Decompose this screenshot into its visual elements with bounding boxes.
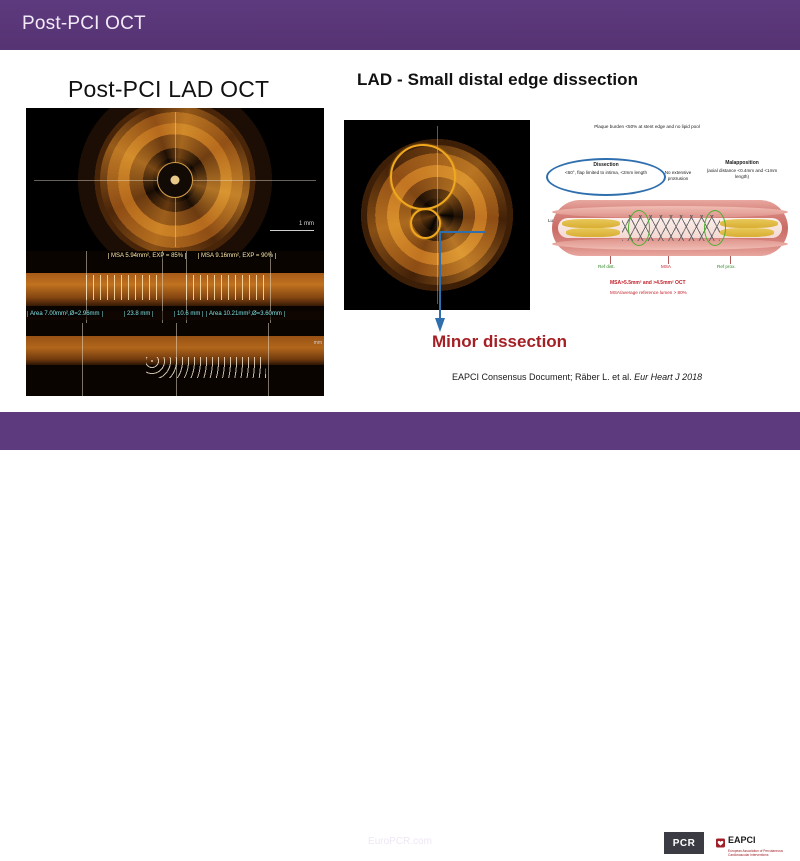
dissection-highlight-circle <box>390 144 456 210</box>
msa-ratio: MSA/average reference lumen > 80% <box>610 290 687 295</box>
edge-marker-distal <box>628 210 650 246</box>
pcr-badge: PCR <box>664 832 704 854</box>
dissection-detail: <60°, flap limited to intima, <2mm lengt… <box>556 170 656 176</box>
plaque-distal-bottom <box>566 228 620 237</box>
ref-tick-proximal <box>730 256 731 264</box>
citation: EAPCI Consensus Document; Räber L. et al… <box>452 372 702 382</box>
oct-marker <box>268 323 269 396</box>
oct-image-left: 1 mm MSA 5.94mm², EXP = 85% MSA 9.16mm²,… <box>26 108 324 396</box>
eapci-badge: EAPCI European Association of Percutaneo… <box>712 830 790 856</box>
header-title: Post-PCI OCT <box>22 13 146 35</box>
msa-label: MSA <box>661 264 671 269</box>
plaque-proximal-bottom <box>720 228 774 237</box>
vessel-cross-illustration <box>552 200 788 256</box>
oct-marker <box>176 323 177 396</box>
minor-dissection-annotation: Minor dissection <box>432 332 567 352</box>
vessel-diagram: Plaque burden <50% at stent edge and no … <box>548 122 792 306</box>
ref-tick-msa <box>668 256 669 264</box>
citation-journal: Eur Heart J 2018 <box>634 372 702 382</box>
oct-scale-bar <box>270 230 314 231</box>
malapposition-detail: (axial distance <0.4mm and <1mm length) <box>700 168 784 180</box>
area-distal-label: Area 7.00mm²,Ø=2.96mm <box>27 311 103 317</box>
eapci-text-block: EAPCI European Association of Percutaneo… <box>728 830 790 857</box>
slide-header: Post-PCI OCT <box>0 0 800 50</box>
dissection-title: Dissection <box>566 162 646 169</box>
oct-speckle-texture <box>146 357 266 379</box>
plaque-proximal-top <box>720 219 778 228</box>
malapposition-title: Malapposition <box>700 160 784 167</box>
length-distal-label: 23.8 mm <box>124 311 153 317</box>
right-panel-title: LAD - Small distal edge dissection <box>357 70 638 90</box>
msa-criteria: MSA>5.5mm² and >4.5mm² OCT <box>610 280 686 286</box>
msa-distal-label: MSA 5.94mm², EXP = 85% <box>108 253 186 259</box>
msa-proximal-label: MSA 9.16mm², EXP = 90% <box>198 253 276 259</box>
eapci-name: EAPCI <box>728 835 756 845</box>
oct-scale-label: 1 mm <box>299 221 314 227</box>
oct-stent-struts-proximal <box>186 275 270 299</box>
left-panel-title: Post-PCI LAD OCT <box>68 76 269 103</box>
eapci-subtitle: European Association of Percutaneous Car… <box>728 849 790 857</box>
length-proximal-label: 10.6 mm <box>174 311 203 317</box>
area-proximal-label: Area 10.21mm²,Ø=3.60mm <box>206 311 285 317</box>
citation-text: EAPCI Consensus Document; Räber L. et al… <box>452 372 634 382</box>
oct-stent-struts-distal <box>86 275 162 299</box>
oct-unit-label: mm <box>314 340 322 346</box>
plaque-distal-top <box>562 219 620 228</box>
ref-proximal-label: Ref prox. <box>717 264 736 269</box>
plaque-burden-note: Plaque burden <50% at stent edge and no … <box>572 124 722 130</box>
slide-footer: 2023 euro PCR EuroPCR.com PCR EAPCI Euro… <box>0 412 800 450</box>
oct-cross-section: 1 mm <box>26 108 324 251</box>
heart-icon <box>716 836 725 850</box>
oct-marker <box>82 323 83 396</box>
edge-marker-proximal <box>704 210 726 246</box>
tissue-protrusion-label: No extensive protrusion <box>656 170 700 182</box>
ref-tick-distal <box>610 256 611 264</box>
slide: Post-PCI OCT Post-PCI LAD OCT 1 mm MSA 5… <box>0 0 800 450</box>
oct-catheter-core <box>171 175 180 184</box>
oct-longitudinal-lower <box>26 323 324 396</box>
pointer-arrow <box>430 228 490 338</box>
ref-distal-label: Ref dist. <box>598 264 615 269</box>
oct-tissue-band <box>26 273 324 306</box>
